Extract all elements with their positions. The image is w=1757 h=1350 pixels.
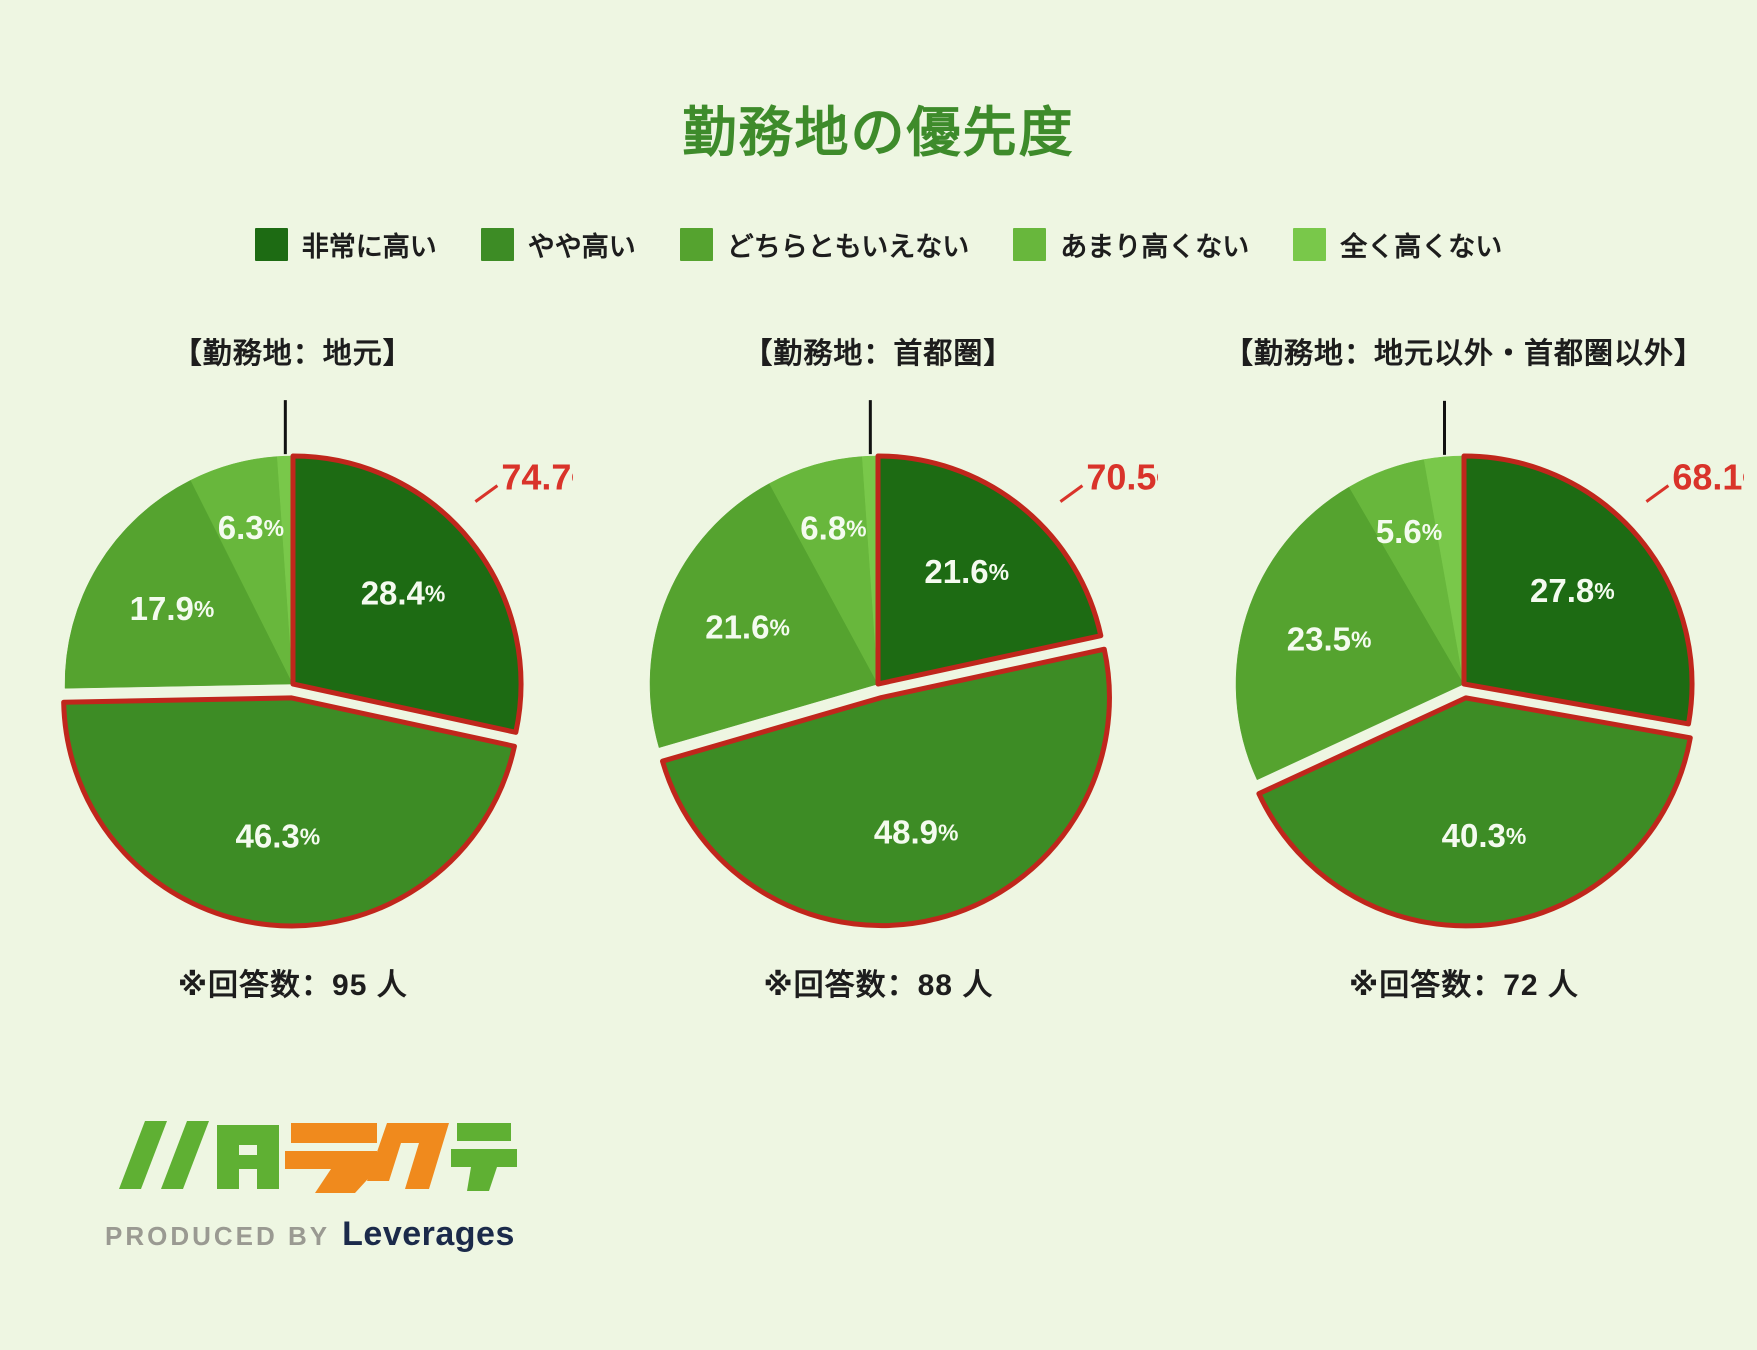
- pie-chart: 28.4%46.3%17.9%6.3%1.1%74.7%: [0, 394, 586, 954]
- pie-panel-title: 【勤務地：地元】: [0, 330, 586, 372]
- pie-panel-title: 【勤務地：地元以外・首都圏以外】: [1171, 330, 1757, 372]
- pie-highlight-total-label: 74.7%: [501, 457, 573, 498]
- pie-slice-label: 27.8%: [1530, 572, 1615, 609]
- total-leader-hook: [475, 486, 497, 502]
- pie-slice-label: 5.6%: [1376, 513, 1442, 550]
- legend-swatch-icon: [481, 228, 514, 261]
- pie-slice-label: 6.3%: [218, 509, 284, 546]
- infographic-page: 勤務地の優先度 非常に高いやや高いどちらともいえないあまり高くない全く高くない …: [0, 0, 1757, 1350]
- pie-slice-label: 46.3%: [235, 817, 320, 854]
- pie-highlight-total-label: 68.1%: [1672, 457, 1744, 498]
- hataraku-logo-icon: [105, 1105, 525, 1205]
- legend-swatch-icon: [255, 228, 288, 261]
- pie-slice-label: 21.6%: [706, 608, 791, 645]
- legend-item-label: やや高い: [528, 225, 636, 264]
- pie-slice-label: 23.5%: [1287, 620, 1372, 657]
- legend-item-3: あまり高くない: [1013, 225, 1249, 264]
- pie-chart: 21.6%48.9%21.6%6.8%1.1%70.5%: [586, 394, 1172, 954]
- pie-slice-label: 17.9%: [129, 590, 214, 627]
- total-leader-hook: [1646, 486, 1668, 502]
- legend-item-2: どちらともいえない: [680, 225, 969, 264]
- pie-slice-label: 48.9%: [874, 813, 959, 850]
- pie-slice-label: 40.3%: [1442, 817, 1527, 854]
- pie-slice-label: 21.6%: [925, 553, 1010, 590]
- legend-item-label: あまり高くない: [1060, 225, 1249, 264]
- legend-swatch-icon: [1293, 228, 1326, 261]
- pie-highlight-total-label: 70.5%: [1087, 457, 1159, 498]
- pie-chart: 27.8%40.3%23.5%5.6%2.8%68.1%: [1171, 394, 1757, 954]
- pie-callout-label: 1.1%: [245, 394, 314, 396]
- pie-panel-title: 【勤務地：首都圏】: [586, 330, 1172, 372]
- legend-item-label: どちらともいえない: [727, 225, 969, 264]
- legend-swatch-icon: [1013, 228, 1046, 261]
- legend-item-1: やや高い: [481, 225, 636, 264]
- pie-respondents-note: ※回答数：88 人: [586, 960, 1172, 1004]
- logo-produced-by: PRODUCED BY: [105, 1221, 330, 1252]
- legend: 非常に高いやや高いどちらともいえないあまり高くない全く高くない: [0, 225, 1757, 264]
- total-leader-hook: [1061, 486, 1083, 502]
- brand-logo: PRODUCED BY Leverages: [105, 1105, 585, 1254]
- pie-panel-1: 【勤務地：首都圏】21.6%48.9%21.6%6.8%1.1%70.5%※回答…: [586, 330, 1172, 1004]
- pie-respondents-note: ※回答数：72 人: [1171, 960, 1757, 1004]
- legend-item-label: 全く高くない: [1340, 225, 1502, 264]
- pie-slice-label: 6.8%: [801, 509, 867, 546]
- pie-panel-0: 【勤務地：地元】28.4%46.3%17.9%6.3%1.1%74.7%※回答数…: [0, 330, 586, 1004]
- pie-callout-label: 2.8%: [1404, 394, 1473, 397]
- legend-swatch-icon: [680, 228, 713, 261]
- legend-item-4: 全く高くない: [1293, 225, 1502, 264]
- logo-company: Leverages: [342, 1215, 515, 1254]
- legend-item-0: 非常に高い: [255, 225, 437, 264]
- pie-respondents-note: ※回答数：95 人: [0, 960, 586, 1004]
- pie-slice-label: 28.4%: [360, 574, 445, 611]
- pie-panels: 【勤務地：地元】28.4%46.3%17.9%6.3%1.1%74.7%※回答数…: [0, 330, 1757, 1004]
- pie-callout-label: 1.1%: [830, 394, 899, 396]
- pie-panel-2: 【勤務地：地元以外・首都圏以外】27.8%40.3%23.5%5.6%2.8%6…: [1171, 330, 1757, 1004]
- page-title: 勤務地の優先度: [0, 88, 1757, 167]
- legend-item-label: 非常に高い: [302, 225, 437, 264]
